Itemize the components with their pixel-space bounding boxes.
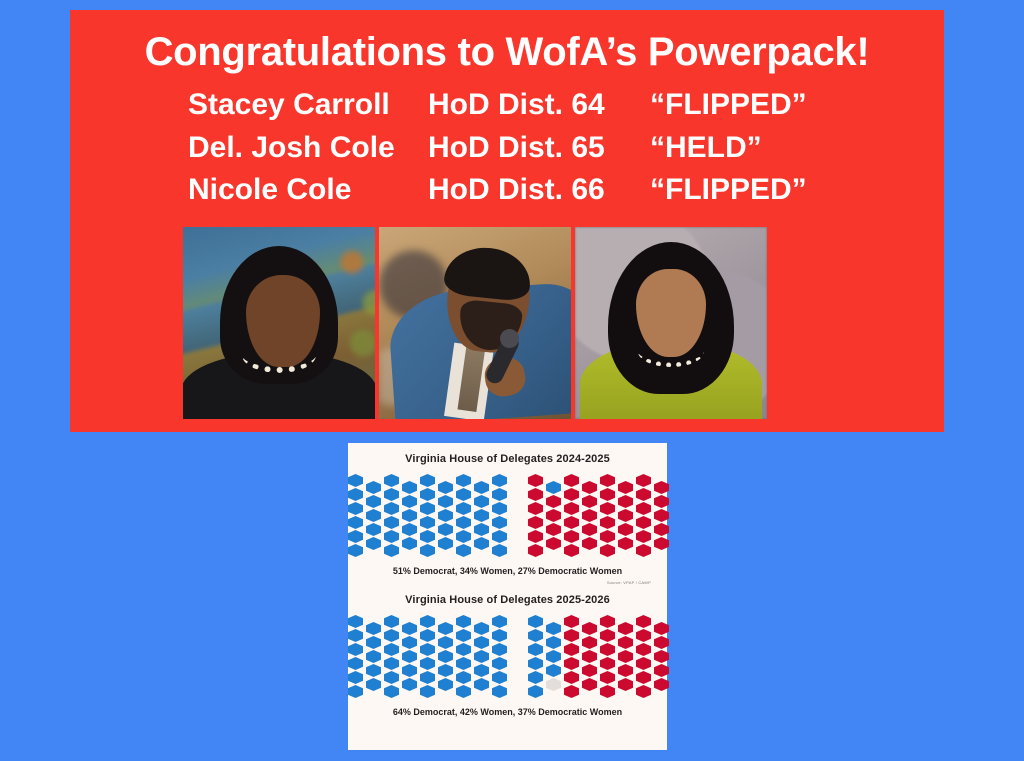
seat-hex-dem xyxy=(528,671,543,684)
seat-hex-dem xyxy=(402,523,417,536)
seat-hex-dem xyxy=(492,544,507,557)
seat-hex-rep xyxy=(528,502,543,515)
seat-hex-empty xyxy=(510,495,525,508)
hex-column xyxy=(420,474,435,557)
hex-column xyxy=(618,622,633,691)
seat-hex-dem xyxy=(366,523,381,536)
seat-hex-rep xyxy=(564,530,579,543)
hex-column xyxy=(636,474,651,557)
hex-column xyxy=(600,474,615,557)
candidate-district: HoD Dist. 64 xyxy=(428,84,650,127)
seat-hex-rep xyxy=(654,664,669,677)
seat-hex-rep xyxy=(636,629,651,642)
hex-column xyxy=(564,474,579,557)
seat-hex-rep xyxy=(618,622,633,635)
seat-hex-dem xyxy=(456,488,471,501)
seat-hex-rep xyxy=(618,664,633,677)
seat-hex-dem xyxy=(474,481,489,494)
seat-hex-dem xyxy=(456,474,471,487)
hex-column xyxy=(510,622,525,691)
seat-hex-dem xyxy=(348,488,363,501)
seat-hex-dem xyxy=(492,629,507,642)
seat-hex-dem xyxy=(420,643,435,656)
seat-hex-dem xyxy=(402,495,417,508)
hex-column xyxy=(474,622,489,691)
seat-hex-dem xyxy=(384,657,399,670)
candidate-photo-stacey-carroll xyxy=(183,227,375,419)
seat-hex-dem xyxy=(528,685,543,698)
seat-hex-dem xyxy=(474,636,489,649)
seat-hex-rep xyxy=(582,622,597,635)
seat-hex-dem xyxy=(366,622,381,635)
seat-hex-dem xyxy=(438,664,453,677)
seat-hex-dem xyxy=(546,650,561,663)
hex-column xyxy=(564,615,579,698)
seat-hex-rep xyxy=(528,474,543,487)
seat-hex-rep xyxy=(564,544,579,557)
seat-hex-dem xyxy=(420,615,435,628)
seat-hex-rep xyxy=(528,516,543,529)
seat-hex-dem xyxy=(438,537,453,550)
seat-hex-rep xyxy=(636,502,651,515)
seat-hex-dem xyxy=(348,516,363,529)
photo-necklace xyxy=(638,336,704,367)
hex-column xyxy=(402,622,417,691)
seat-hex-rep xyxy=(600,643,615,656)
seat-hex-dem xyxy=(528,643,543,656)
seat-hex-rep xyxy=(528,544,543,557)
seat-hex-empty xyxy=(510,537,525,550)
congratulations-banner: Congratulations to WofA’s Powerpack! Sta… xyxy=(70,10,944,432)
seat-hex-rep xyxy=(582,495,597,508)
seat-hex-dem xyxy=(546,481,561,494)
seat-hex-dem xyxy=(384,516,399,529)
seat-hex-dem xyxy=(456,502,471,515)
seat-hex-dem xyxy=(384,488,399,501)
seat-hex-dem xyxy=(384,530,399,543)
seat-hex-vac xyxy=(546,678,561,691)
candidate-status: “FLIPPED” xyxy=(650,169,870,212)
seat-hex-dem xyxy=(366,678,381,691)
seat-hex-rep xyxy=(564,474,579,487)
seat-hex-dem xyxy=(366,537,381,550)
seat-hex-dem xyxy=(402,664,417,677)
seat-hex-dem xyxy=(366,495,381,508)
hex-column xyxy=(366,481,381,550)
seat-hex-dem xyxy=(366,650,381,663)
seat-hex-rep xyxy=(564,671,579,684)
seat-hex-dem xyxy=(492,643,507,656)
seat-hex-rep xyxy=(600,474,615,487)
seat-hex-dem xyxy=(402,650,417,663)
seat-hex-dem xyxy=(438,636,453,649)
hex-column xyxy=(600,615,615,698)
seat-hex-dem xyxy=(402,537,417,550)
seat-hex-rep xyxy=(636,671,651,684)
seat-hex-dem xyxy=(438,481,453,494)
seat-hex-dem xyxy=(420,671,435,684)
seat-hex-rep xyxy=(654,509,669,522)
chart-caption: 51% Democrat, 34% Women, 27% Democratic … xyxy=(360,566,655,576)
seat-hex-rep xyxy=(636,685,651,698)
roster-row: Del. Josh Cole HoD Dist. 65 “HELD” xyxy=(188,127,944,170)
seat-hex-dem xyxy=(384,615,399,628)
hex-column xyxy=(474,481,489,550)
seat-hex-rep xyxy=(618,636,633,649)
seat-hex-dem xyxy=(456,643,471,656)
seat-hex-rep xyxy=(636,530,651,543)
seat-hex-empty xyxy=(510,650,525,663)
seat-hex-dem xyxy=(456,516,471,529)
seat-hex-dem xyxy=(438,678,453,691)
hex-column xyxy=(528,615,543,698)
hemicycle-chart-card: Virginia House of Delegates 2024-2025 51… xyxy=(348,443,667,750)
candidate-photo-nicole-cole xyxy=(575,227,767,419)
candidate-status: “HELD” xyxy=(650,127,870,170)
seat-hex-dem xyxy=(492,530,507,543)
seat-hex-dem xyxy=(438,495,453,508)
seat-hex-dem xyxy=(492,671,507,684)
seat-hex-rep xyxy=(528,488,543,501)
seat-hex-rep xyxy=(654,622,669,635)
seat-hex-rep xyxy=(654,650,669,663)
seat-hex-dem xyxy=(528,657,543,670)
seat-hex-rep xyxy=(654,523,669,536)
seat-hex-rep xyxy=(636,657,651,670)
seat-hex-rep xyxy=(636,516,651,529)
hex-column xyxy=(384,615,399,698)
hemicycle-seat-grid xyxy=(360,615,655,698)
seat-hex-dem xyxy=(420,685,435,698)
seat-hex-dem xyxy=(420,629,435,642)
seat-hex-dem xyxy=(492,516,507,529)
seat-hex-rep xyxy=(546,495,561,508)
seat-hex-dem xyxy=(492,488,507,501)
seat-hex-dem xyxy=(456,544,471,557)
seat-hex-rep xyxy=(618,678,633,691)
chart-title: Virginia House of Delegates 2024-2025 xyxy=(360,453,655,465)
microphone-head xyxy=(500,329,519,348)
chart-caption: 64% Democrat, 42% Women, 37% Democratic … xyxy=(360,707,655,717)
seat-hex-dem xyxy=(348,685,363,698)
seat-hex-dem xyxy=(420,516,435,529)
seat-hex-dem xyxy=(366,664,381,677)
candidate-photo-strip xyxy=(183,227,767,419)
seat-hex-dem xyxy=(348,474,363,487)
chart-source: Source: VPAP / CAWP xyxy=(360,580,655,585)
seat-hex-rep xyxy=(654,495,669,508)
seat-hex-rep xyxy=(582,509,597,522)
seat-hex-dem xyxy=(384,474,399,487)
seat-hex-dem xyxy=(474,509,489,522)
seat-hex-rep xyxy=(564,643,579,656)
seat-hex-dem xyxy=(384,544,399,557)
seat-hex-dem xyxy=(420,657,435,670)
seat-hex-rep xyxy=(582,481,597,494)
seat-hex-dem xyxy=(492,685,507,698)
seat-hex-rep xyxy=(636,643,651,656)
seat-hex-rep xyxy=(600,530,615,543)
seat-hex-dem xyxy=(474,523,489,536)
candidate-district: HoD Dist. 66 xyxy=(428,169,650,212)
seat-hex-rep xyxy=(582,636,597,649)
seat-hex-dem xyxy=(348,615,363,628)
candidate-status: “FLIPPED” xyxy=(650,84,870,127)
seat-hex-rep xyxy=(564,629,579,642)
seat-hex-dem xyxy=(384,643,399,656)
seat-hex-rep xyxy=(600,544,615,557)
seat-hex-rep xyxy=(618,523,633,536)
seat-hex-rep xyxy=(618,537,633,550)
seat-hex-rep xyxy=(618,495,633,508)
hex-column xyxy=(438,622,453,691)
seat-hex-rep xyxy=(636,544,651,557)
seat-hex-rep xyxy=(636,488,651,501)
hex-column xyxy=(456,474,471,557)
seat-hex-rep xyxy=(600,657,615,670)
seat-hex-dem xyxy=(348,657,363,670)
seat-hex-rep xyxy=(600,502,615,515)
seat-hex-dem xyxy=(348,530,363,543)
seat-hex-rep xyxy=(528,530,543,543)
seat-hex-rep xyxy=(564,657,579,670)
seat-hex-rep xyxy=(600,671,615,684)
candidate-photo-josh-cole xyxy=(379,227,571,419)
seat-hex-dem xyxy=(492,615,507,628)
seat-hex-dem xyxy=(366,636,381,649)
seat-hex-dem xyxy=(348,629,363,642)
seat-hex-rep xyxy=(600,488,615,501)
seat-hex-rep xyxy=(618,509,633,522)
seat-hex-dem xyxy=(528,615,543,628)
hex-column xyxy=(528,474,543,557)
photo-necklace xyxy=(242,337,316,373)
seat-hex-rep xyxy=(564,516,579,529)
seat-hex-rep xyxy=(546,537,561,550)
seat-hex-rep xyxy=(582,523,597,536)
seat-hex-dem xyxy=(402,636,417,649)
seat-hex-dem xyxy=(474,495,489,508)
winners-roster: Stacey Carroll HoD Dist. 64 “FLIPPED” De… xyxy=(70,84,944,212)
seat-hex-empty xyxy=(510,636,525,649)
hex-column xyxy=(384,474,399,557)
candidate-district: HoD Dist. 65 xyxy=(428,127,650,170)
hemicycle-seat-grid xyxy=(360,474,655,557)
seat-hex-dem xyxy=(474,622,489,635)
seat-hex-dem xyxy=(546,622,561,635)
seat-hex-dem xyxy=(402,678,417,691)
chart-2024-2025: Virginia House of Delegates 2024-2025 51… xyxy=(360,453,655,585)
seat-hex-dem xyxy=(456,657,471,670)
seat-hex-dem xyxy=(348,643,363,656)
seat-hex-dem xyxy=(474,678,489,691)
seat-hex-rep xyxy=(546,509,561,522)
seat-hex-dem xyxy=(384,629,399,642)
hex-column xyxy=(654,481,669,550)
hex-column xyxy=(654,622,669,691)
candidate-name: Nicole Cole xyxy=(188,169,428,212)
roster-row: Nicole Cole HoD Dist. 66 “FLIPPED” xyxy=(188,169,944,212)
seat-hex-dem xyxy=(384,685,399,698)
seat-hex-dem xyxy=(402,481,417,494)
seat-hex-rep xyxy=(654,636,669,649)
seat-hex-dem xyxy=(492,474,507,487)
seat-hex-dem xyxy=(402,509,417,522)
seat-hex-rep xyxy=(654,481,669,494)
seat-hex-rep xyxy=(654,537,669,550)
hex-column xyxy=(420,615,435,698)
seat-hex-dem xyxy=(402,622,417,635)
seat-hex-rep xyxy=(618,650,633,663)
candidate-name: Stacey Carroll xyxy=(188,84,428,127)
seat-hex-rep xyxy=(636,474,651,487)
seat-hex-dem xyxy=(492,657,507,670)
hex-column xyxy=(636,615,651,698)
seat-hex-dem xyxy=(474,664,489,677)
seat-hex-rep xyxy=(564,685,579,698)
seat-hex-rep xyxy=(618,481,633,494)
seat-hex-dem xyxy=(528,629,543,642)
seat-hex-rep xyxy=(582,537,597,550)
hex-column xyxy=(456,615,471,698)
seat-hex-dem xyxy=(546,664,561,677)
hex-column xyxy=(582,622,597,691)
seat-hex-dem xyxy=(456,685,471,698)
seat-hex-rep xyxy=(582,650,597,663)
seat-hex-rep xyxy=(582,678,597,691)
seat-hex-dem xyxy=(384,502,399,515)
seat-hex-empty xyxy=(510,622,525,635)
seat-hex-dem xyxy=(546,636,561,649)
seat-hex-empty xyxy=(510,678,525,691)
seat-hex-dem xyxy=(420,488,435,501)
seat-hex-dem xyxy=(366,481,381,494)
seat-hex-dem xyxy=(474,537,489,550)
seat-hex-dem xyxy=(384,671,399,684)
seat-hex-dem xyxy=(456,671,471,684)
seat-hex-empty xyxy=(510,523,525,536)
hex-column xyxy=(546,481,561,550)
seat-hex-dem xyxy=(348,671,363,684)
seat-hex-rep xyxy=(600,685,615,698)
hex-column xyxy=(546,622,561,691)
hex-column xyxy=(618,481,633,550)
seat-hex-dem xyxy=(420,474,435,487)
seat-hex-dem xyxy=(438,523,453,536)
chart-title: Virginia House of Delegates 2025-2026 xyxy=(360,594,655,606)
seat-hex-dem xyxy=(456,615,471,628)
seat-hex-empty xyxy=(510,664,525,677)
chart-2025-2026: Virginia House of Delegates 2025-2026 64… xyxy=(360,594,655,717)
seat-hex-empty xyxy=(510,481,525,494)
seat-hex-dem xyxy=(420,544,435,557)
hex-column xyxy=(510,481,525,550)
seat-hex-rep xyxy=(564,488,579,501)
seat-hex-rep xyxy=(564,615,579,628)
seat-hex-dem xyxy=(438,650,453,663)
seat-hex-dem xyxy=(438,509,453,522)
hex-column xyxy=(492,615,507,698)
seat-hex-dem xyxy=(366,509,381,522)
hex-column xyxy=(348,615,363,698)
hex-column xyxy=(438,481,453,550)
hex-column xyxy=(366,622,381,691)
seat-hex-rep xyxy=(600,615,615,628)
seat-hex-rep xyxy=(600,629,615,642)
seat-hex-dem xyxy=(348,544,363,557)
seat-hex-dem xyxy=(456,530,471,543)
hex-column xyxy=(348,474,363,557)
chart-spacer xyxy=(360,585,655,594)
seat-hex-rep xyxy=(582,664,597,677)
seat-hex-rep xyxy=(564,502,579,515)
roster-row: Stacey Carroll HoD Dist. 64 “FLIPPED” xyxy=(188,84,944,127)
seat-hex-dem xyxy=(420,502,435,515)
seat-hex-dem xyxy=(492,502,507,515)
seat-hex-dem xyxy=(474,650,489,663)
hex-column xyxy=(582,481,597,550)
hex-column xyxy=(492,474,507,557)
candidate-name: Del. Josh Cole xyxy=(188,127,428,170)
seat-hex-dem xyxy=(456,629,471,642)
seat-hex-rep xyxy=(546,523,561,536)
seat-hex-empty xyxy=(510,509,525,522)
hex-column xyxy=(402,481,417,550)
seat-hex-rep xyxy=(654,678,669,691)
seat-hex-dem xyxy=(348,502,363,515)
seat-hex-dem xyxy=(438,622,453,635)
banner-title: Congratulations to WofA’s Powerpack! xyxy=(70,10,944,73)
seat-hex-dem xyxy=(420,530,435,543)
seat-hex-rep xyxy=(600,516,615,529)
seat-hex-rep xyxy=(636,615,651,628)
